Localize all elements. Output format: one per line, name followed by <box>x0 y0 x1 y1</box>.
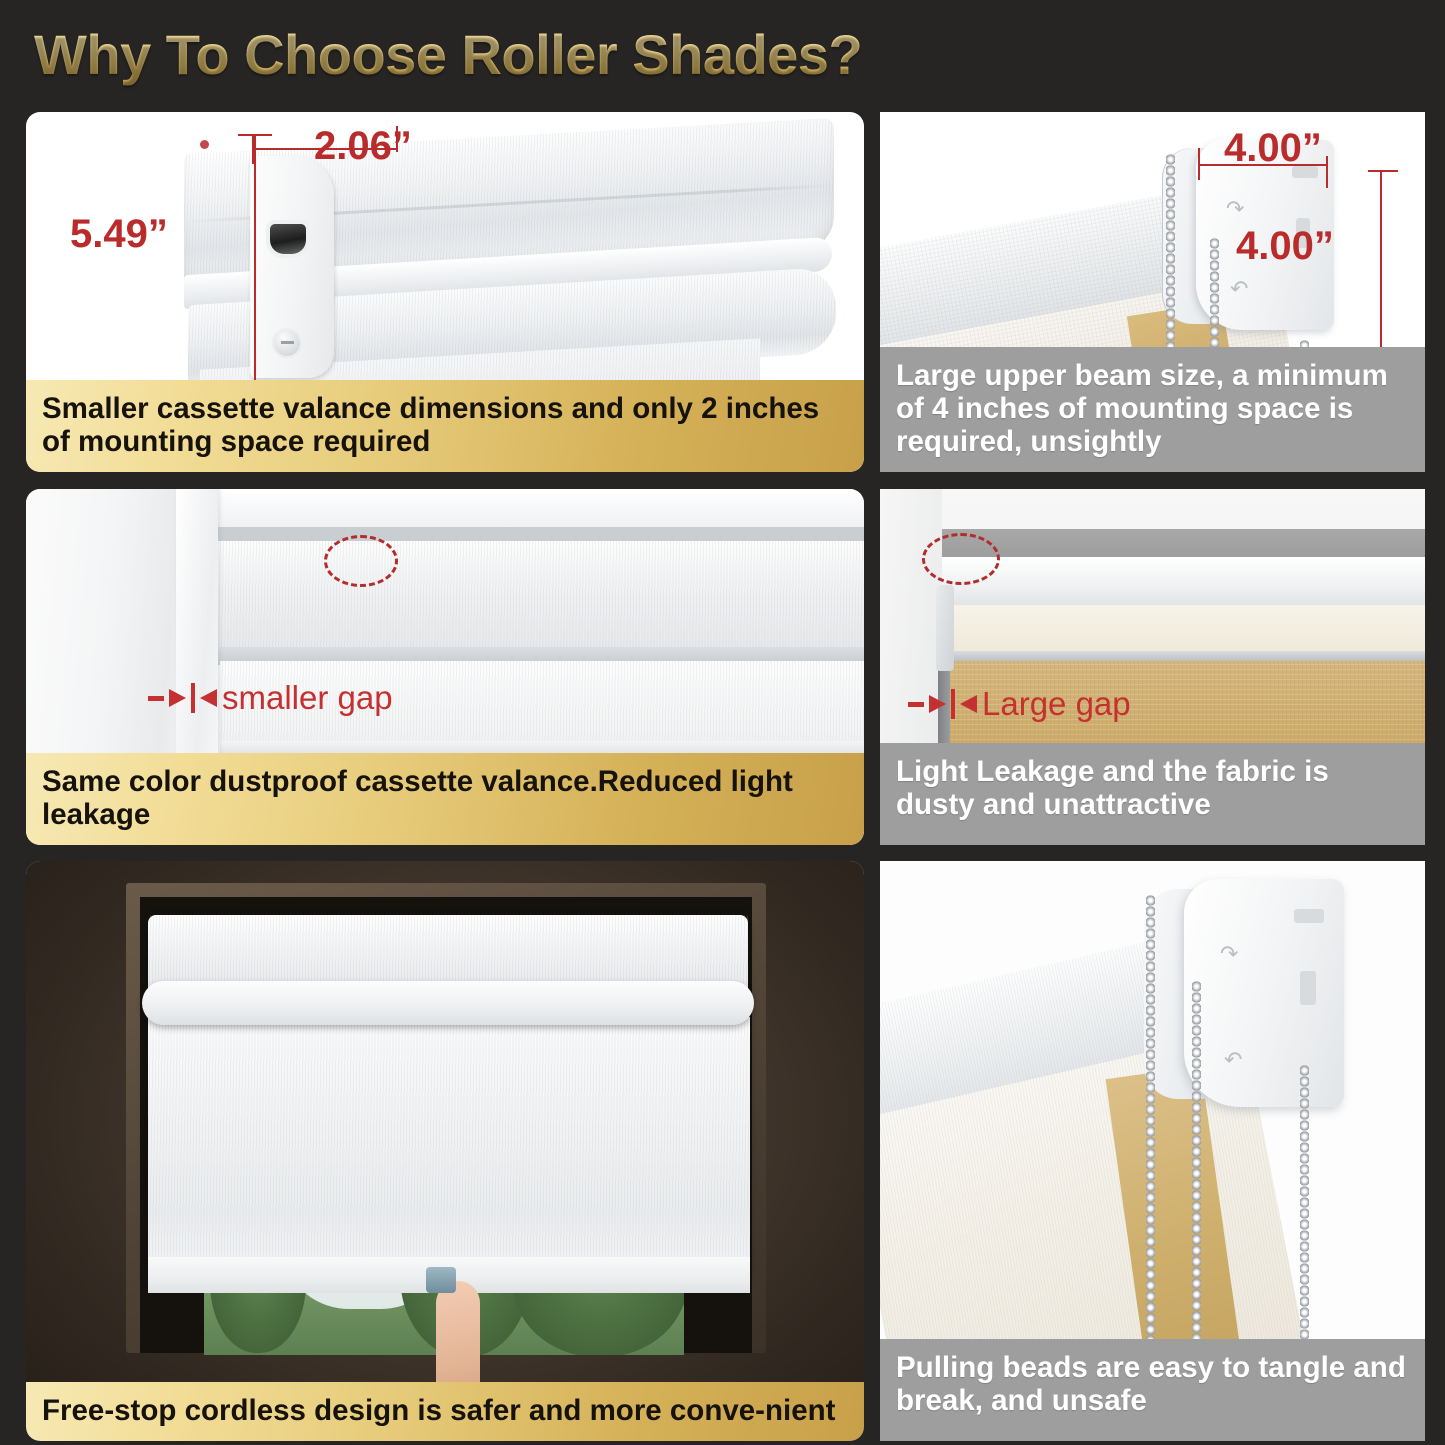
gap-arrow-right-icon <box>929 695 946 713</box>
gap-arrow-right-icon <box>169 689 186 707</box>
panel-large-beam: ↷ ↶ 4.00” 4.00” Large upper beam size, a… <box>880 112 1425 472</box>
panel-smaller-cassette: 2.06” 5.49” Smaller cassette valance dim… <box>26 112 864 472</box>
height-dimension-tick-top <box>238 134 272 136</box>
gap-measure-bar <box>951 689 955 719</box>
gap-arrow-stem-left <box>148 696 164 701</box>
infographic-root: Why To Choose Roller Shades? <box>0 0 1445 1445</box>
cassette-valance-face <box>218 541 864 649</box>
panel-smaller-gap: smaller gap Same color dustproof cassett… <box>26 489 864 845</box>
window-frame-header <box>176 489 864 527</box>
panel-large-gap: Large gap Light Leakage and the fabric i… <box>880 489 1425 845</box>
height-dimension-label: 5.49” <box>70 212 168 257</box>
large-gap-callout: Large gap <box>908 685 1131 723</box>
end-cap-pin-icon <box>200 140 209 149</box>
beam-width-tick-right <box>1326 156 1328 188</box>
smaller-gap-callout: smaller gap <box>148 679 393 717</box>
end-cap-slot-icon <box>270 224 306 254</box>
beam-height-label: 4.00” <box>1236 224 1334 269</box>
bracket-arrow-icon-2: ↶ <box>1230 276 1248 302</box>
height-dimension-line <box>254 134 256 382</box>
smaller-gap-label: smaller gap <box>222 679 393 717</box>
cream-fabric-band <box>950 605 1425 653</box>
bracket-tab-icon <box>1294 909 1324 923</box>
panel-cordless-design: Free-stop cordless design is safer and m… <box>26 861 864 1441</box>
bracket-arrow-icon-2: ↶ <box>1224 1047 1242 1073</box>
bead-chain-left <box>1146 895 1155 1355</box>
panel-5-caption: Free-stop cordless design is safer and m… <box>26 1382 864 1441</box>
panel-6-caption: Pulling beads are easy to tangle and bre… <box>880 1339 1425 1441</box>
valance-face <box>942 557 1425 609</box>
end-cap-screw-icon <box>272 328 302 358</box>
gap-arrow-left-icon <box>960 695 977 713</box>
panel-1-caption: Smaller cassette valance dimensions and … <box>26 380 864 472</box>
panel-pulling-beads: ↷ ↶ Pulling beads are easy to tangle and… <box>880 861 1425 1441</box>
bead-chain-mid <box>1192 981 1201 1355</box>
panel-2-caption: Large upper beam size, a minimum of 4 in… <box>880 347 1425 472</box>
gap-arrow-stem-left <box>908 702 924 707</box>
gap-measure-bar <box>191 683 195 713</box>
page-title: Why To Choose Roller Shades? <box>34 22 862 87</box>
highlight-ellipse <box>922 533 1000 585</box>
panel-3-caption: Same color dustproof cassette valance.Re… <box>26 753 864 845</box>
window-frame <box>126 883 766 1353</box>
shade-grip-handle <box>426 1267 456 1293</box>
cassette-valance-illustration <box>154 130 834 370</box>
bracket-slot-icon <box>1300 971 1316 1005</box>
mounting-bracket: ↷ ↶ <box>1184 879 1344 1107</box>
beam-width-tick-left <box>1198 148 1200 180</box>
panel-5-image <box>26 861 864 1441</box>
shade-side-clip <box>936 585 954 671</box>
gap-arrow-left-icon <box>200 689 217 707</box>
roller-shade-fabric <box>148 1017 750 1275</box>
page-title-bar: Why To Choose Roller Shades? <box>0 0 1445 108</box>
bracket-arrow-icon: ↷ <box>1226 196 1244 222</box>
panel-4-caption: Light Leakage and the fabric is dusty an… <box>880 743 1425 845</box>
bracket-arrow-icon: ↷ <box>1220 941 1238 967</box>
shade-fabric-seam <box>220 741 864 753</box>
bead-chain-right <box>1300 1065 1309 1355</box>
roller-shade-cassette-lip <box>142 981 754 1025</box>
beam-width-label: 4.00” <box>1224 126 1322 171</box>
beam-height-dimension-line <box>1380 170 1382 356</box>
width-dimension-label: 2.06” <box>314 124 412 169</box>
large-gap-label: Large gap <box>982 685 1131 723</box>
highlight-ellipse <box>324 535 398 587</box>
beam-height-tick-top <box>1368 170 1398 172</box>
panel-grid: 2.06” 5.49” Smaller cassette valance dim… <box>0 108 1445 1445</box>
valance-end-cap <box>250 156 334 378</box>
